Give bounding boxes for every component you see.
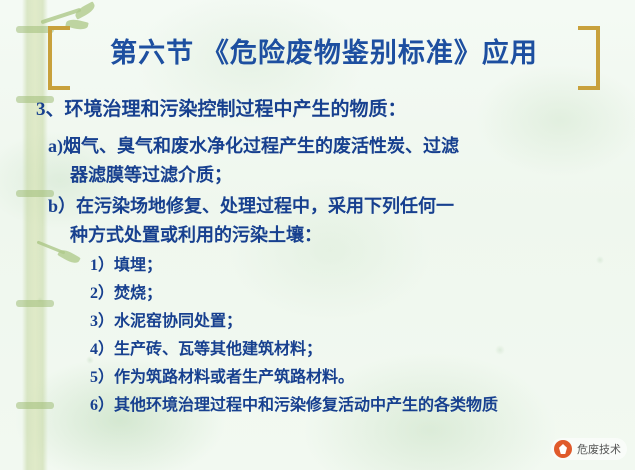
list-item-a: a)烟气、臭气和废水净化过程产生的废活性炭、过滤 器滤膜等过滤介质； xyxy=(48,132,614,190)
list-item-a-line1: a)烟气、臭气和废水净化过程产生的废活性炭、过滤 xyxy=(48,136,459,156)
list-item-b-line1: b）在污染场地修复、处理过程中，采用下列任何一 xyxy=(48,196,454,216)
shield-logo-icon xyxy=(554,440,572,458)
slide-title-block: 第六节 《危险废物鉴别标准》应用 xyxy=(46,26,602,82)
watermark-badge: 危废技术 xyxy=(551,438,627,460)
list-item-a-line2: 器滤膜等过滤介质； xyxy=(70,161,614,190)
sub-item-2: 2）焚烧； xyxy=(90,280,614,307)
sub-item-1: 1）填埋； xyxy=(90,252,614,279)
sub-item-4: 4）生产砖、瓦等其他建筑材料； xyxy=(90,336,614,363)
list-item-3: 3、环境治理和污染控制过程中产生的物质： xyxy=(36,96,614,124)
sub-item-3: 3）水泥窑协同处置； xyxy=(90,308,614,335)
slide-canvas: 第六节 《危险废物鉴别标准》应用 3、环境治理和污染控制过程中产生的物质： a)… xyxy=(0,0,635,470)
list-item-b-line2: 种方式处置或利用的污染土壤： xyxy=(70,221,614,250)
watermark-label: 危废技术 xyxy=(577,441,621,457)
sub-item-5: 5）作为筑路材料或者生产筑路材料。 xyxy=(90,364,614,391)
slide-body: 3、环境治理和污染控制过程中产生的物质： a)烟气、臭气和废水净化过程产生的废活… xyxy=(34,96,614,420)
list-item-b: b）在污染场地修复、处理过程中，采用下列任何一 种方式处置或利用的污染土壤： xyxy=(48,192,614,250)
page-title: 第六节 《危险废物鉴别标准》应用 xyxy=(46,26,602,80)
sub-item-6: 6）其他环境治理过程中和污染修复活动中产生的各类物质 xyxy=(90,392,614,419)
